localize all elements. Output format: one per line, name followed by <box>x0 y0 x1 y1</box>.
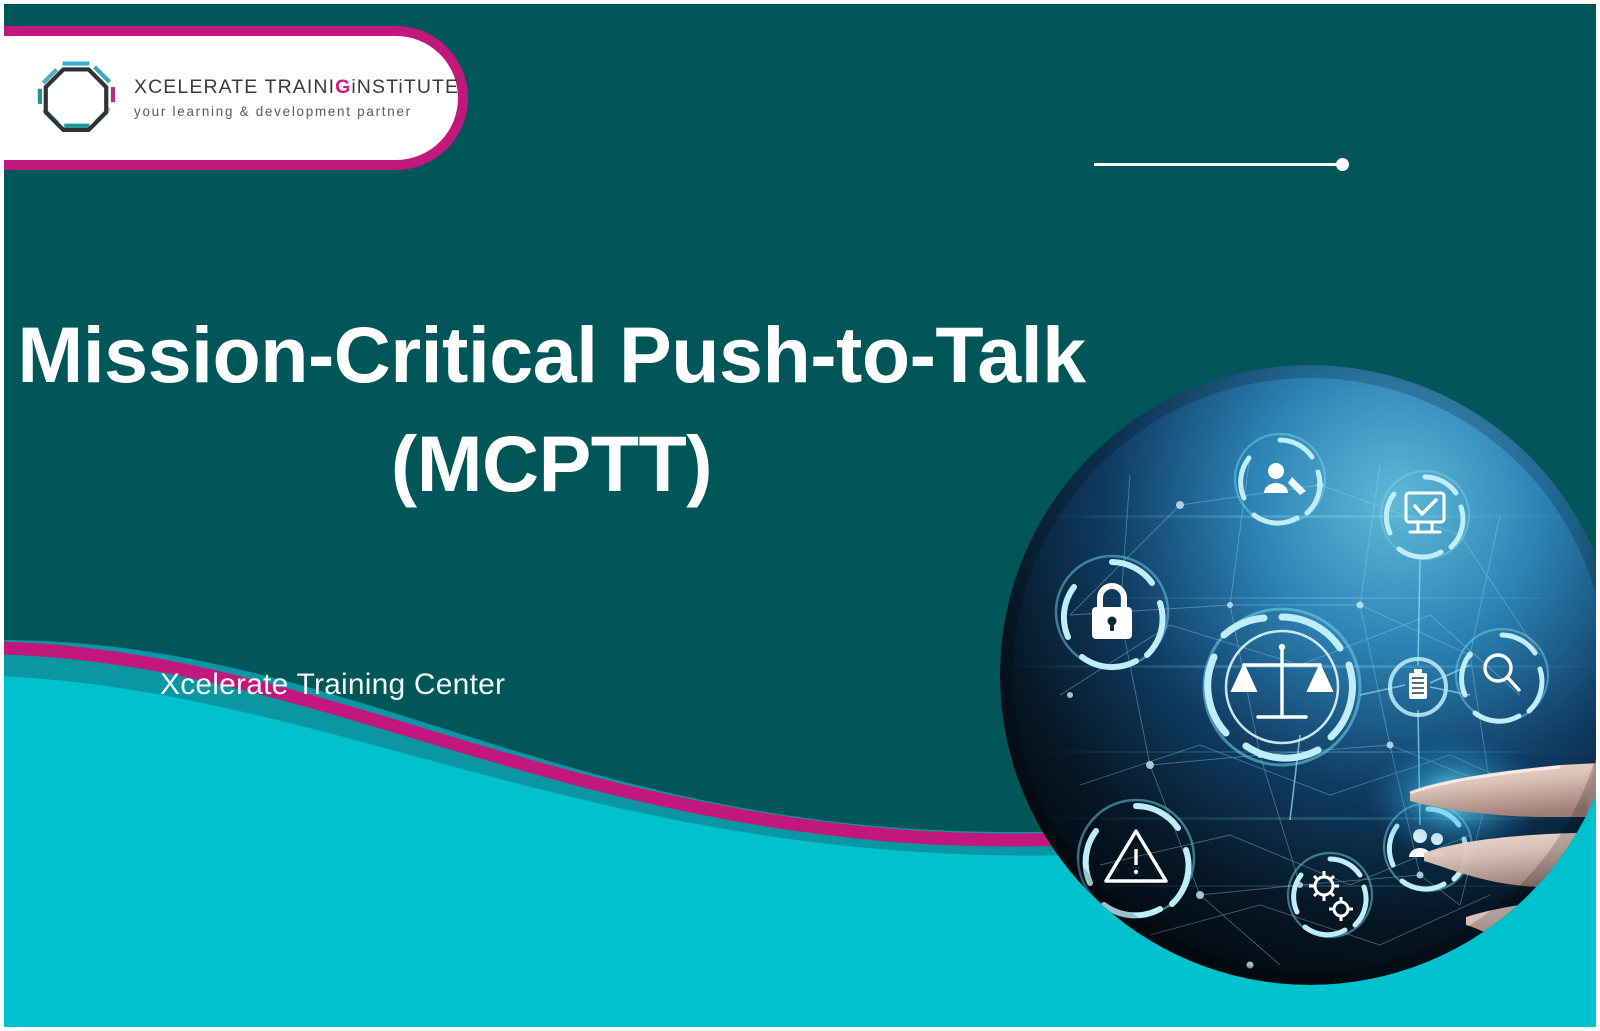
octagon-ring-icon <box>34 56 118 140</box>
logo-title: XCELERATE TRAINIG iNSTiTUTE <box>134 78 459 98</box>
decorative-rule <box>1094 163 1344 166</box>
logo-title-accent: G <box>335 78 351 98</box>
page-title: Mission-Critical Push-to-Talk (MCPTT) <box>14 300 1089 518</box>
logo-title-part1: XCELERATE TRAINI <box>134 78 335 98</box>
title-line-2: (MCPTT) <box>14 409 1089 518</box>
title-block: Mission-Critical Push-to-Talk (MCPTT) <box>14 300 1089 518</box>
hero-circle-image <box>1000 365 1600 985</box>
presentation-slide: Mission-Critical Push-to-Talk (MCPTT) Xc… <box>0 0 1600 1031</box>
logo-title-part2: iNSTiTUTE <box>351 78 459 98</box>
title-line-1: Mission-Critical Push-to-Talk <box>14 300 1089 409</box>
network-sphere-illustration <box>1000 365 1600 985</box>
logo-tagline: your learning & development partner <box>134 105 459 118</box>
logo-card[interactable]: XCELERATE TRAINIG iNSTiTUTE your learnin… <box>0 26 468 170</box>
subtitle: Xcelerate Training Center <box>160 668 505 702</box>
decorative-rule-dot <box>1336 158 1349 171</box>
logo-wordmark: XCELERATE TRAINIG iNSTiTUTE your learnin… <box>134 78 459 118</box>
